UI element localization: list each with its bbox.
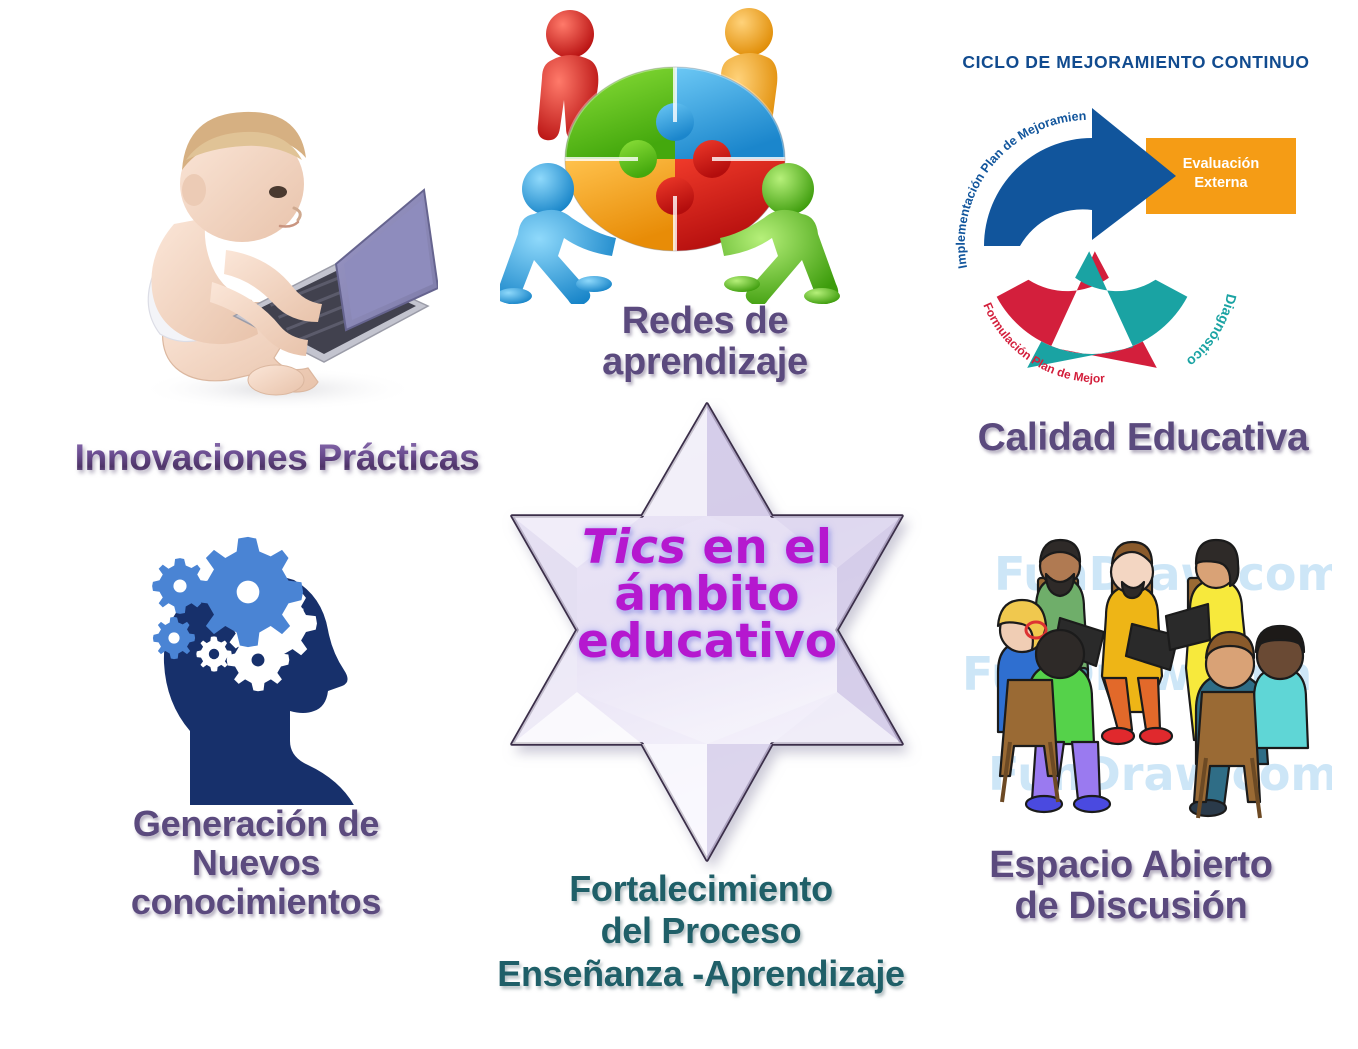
diagnostico-label: Diagnóstico	[1184, 293, 1240, 371]
group-discussion-illustration: FunDraw.com FunDraw.com FunDraw.com	[952, 512, 1332, 822]
label-espacio-abierto-discusion: Espacio Abierto de Discusión	[936, 845, 1326, 927]
baby-using-laptop-photo	[108, 104, 438, 414]
person	[1254, 626, 1308, 748]
cycle-svg: Evaluación Externa Implementación Plan d…	[938, 80, 1334, 404]
person	[1102, 542, 1178, 744]
head-with-gears-icon	[140, 520, 390, 805]
jigsaw-disc	[565, 67, 785, 251]
continuous-improvement-cycle: CICLO DE MEJORAMIENTO CONTINUO Evaluació…	[938, 52, 1334, 404]
puzzle-teamwork-illustration	[500, 4, 850, 304]
label-redes-de-aprendizaje: Redes de aprendizaje	[570, 301, 840, 383]
cycle-title: CICLO DE MEJORAMIENTO CONTINUO	[938, 52, 1334, 73]
label-calidad-educativa: Calidad Educativa	[948, 417, 1338, 459]
central-star-shape: Tics en el ámbito educativo	[452, 398, 962, 874]
label-generacion-nuevos-conocimientos: Generación de Nuevos conocimientos	[86, 805, 426, 922]
poster-canvas: CICLO DE MEJORAMIENTO CONTINUO Evaluació…	[0, 0, 1358, 1049]
implementacion-arrow	[984, 108, 1176, 246]
evaluacion-externa-label-line2: Externa	[1194, 175, 1248, 191]
label-fortalecimiento-proceso: Fortalecimiento del Proceso Enseñanza -A…	[436, 868, 966, 995]
evaluacion-externa-label-line1: Evaluación	[1183, 156, 1260, 172]
label-innovaciones-practicas: Innovaciones Prácticas	[34, 438, 520, 478]
